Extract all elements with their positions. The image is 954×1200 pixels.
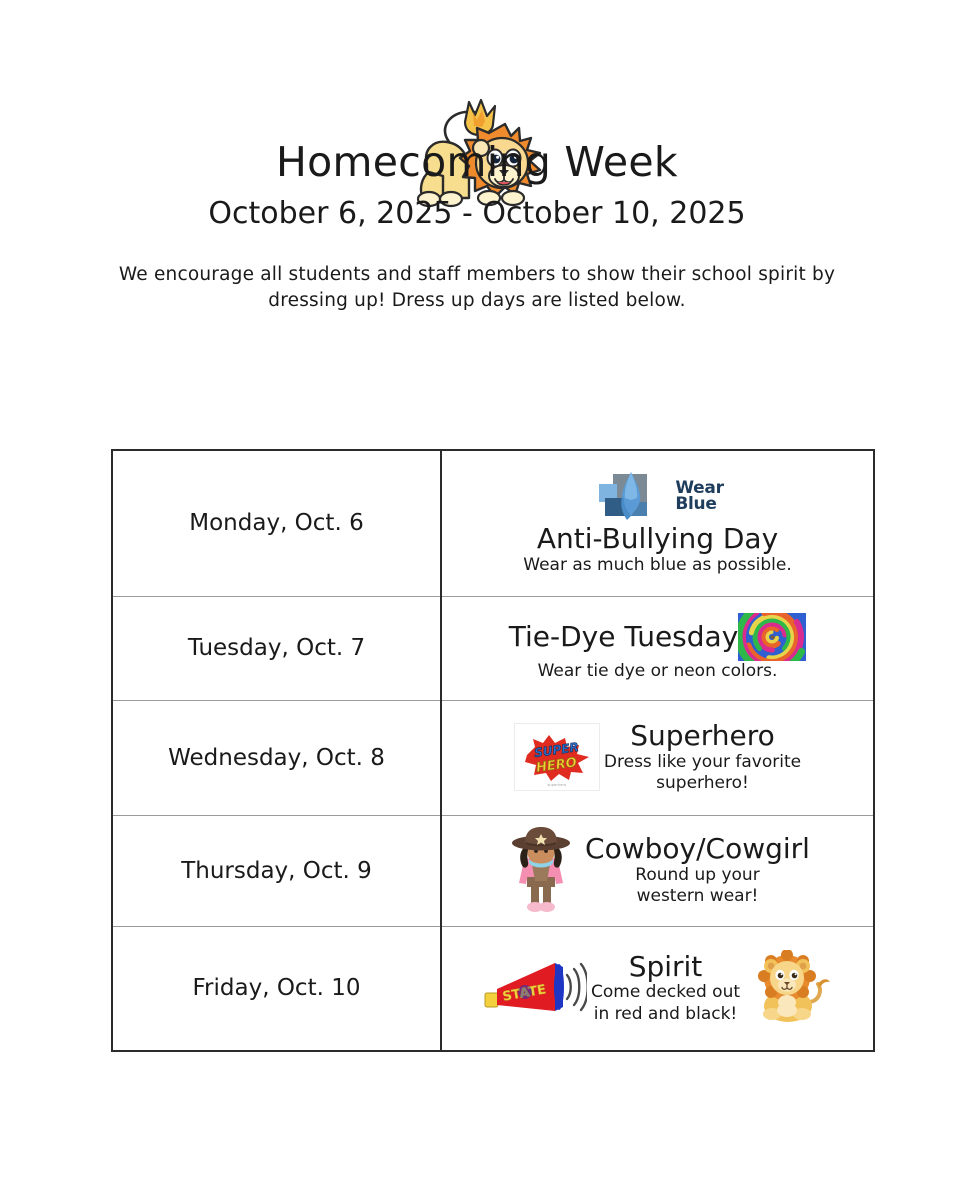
theme-title: Superhero (630, 721, 775, 752)
desc-line-1: Come decked out (591, 982, 740, 1002)
theme-cell-friday: STATE STATE Spirit (441, 926, 874, 1051)
day-cell-monday: Monday, Oct. 6 (112, 450, 441, 596)
theme-description: Dress like your favorite superhero! (604, 752, 801, 795)
day-cell-wednesday: Wednesday, Oct. 8 (112, 700, 441, 815)
lion-cub-icon (752, 950, 832, 1026)
theme-description: Come decked out in red and black! (591, 982, 740, 1025)
theme-cell-thursday: Cowboy/Cowgirl Round up your western wea… (441, 815, 874, 926)
page-title: Homecoming Week (0, 140, 954, 185)
theme-title: Anti-Bullying Day (537, 524, 778, 555)
theme-cell-monday: Wear Blue Anti-Bullying Day Wear as much… (441, 450, 874, 596)
theme-title: Cowboy/Cowgirl (585, 834, 810, 865)
wear-blue-label: Wear Blue (675, 480, 723, 513)
table-row: Friday, Oct. 10 STATE STATE (112, 926, 874, 1051)
homecoming-schedule-table: Monday, Oct. 6 (111, 449, 875, 1052)
superhero-micro-text: superhero (515, 783, 599, 787)
mascot-logo-container (0, 0, 954, 130)
wear-blue-logo-icon: Wear Blue (591, 470, 723, 522)
table-row: Monday, Oct. 6 (112, 450, 874, 596)
theme-title: Spirit (629, 952, 703, 983)
desc-line-1: Dress like your favorite (604, 752, 801, 772)
day-cell-thursday: Thursday, Oct. 9 (112, 815, 441, 926)
tie-dye-spiral-icon (738, 613, 806, 661)
table-row: Thursday, Oct. 9 (112, 815, 874, 926)
theme-description: Wear tie dye or neon colors. (538, 661, 778, 682)
intro-text: We encourage all students and staff memb… (117, 262, 837, 316)
superhero-badge-icon: SUPER HERO superhero (514, 723, 600, 791)
desc-line-2: in red and black! (591, 1004, 740, 1025)
theme-title: Tie-Dye Tuesday (509, 622, 739, 653)
desc-line-2: western wear! (635, 886, 759, 907)
cowgirl-character-icon (505, 825, 577, 917)
megaphone-icon: STATE STATE (483, 955, 587, 1021)
schedule-table-container: Monday, Oct. 6 (111, 449, 843, 1052)
intro-line-1: We encourage all students and staff memb… (119, 264, 752, 285)
desc-line-2: superhero! (604, 773, 801, 794)
theme-description: Round up your western wear! (635, 865, 759, 908)
date-range: October 6, 2025 - October 10, 2025 (0, 197, 954, 232)
day-cell-tuesday: Tuesday, Oct. 7 (112, 596, 441, 700)
table-row: Wednesday, Oct. 8 SUPER HERO superhero (112, 700, 874, 815)
theme-cell-wednesday: SUPER HERO superhero Superhero Dress lik… (441, 700, 874, 815)
flyer-page: Homecoming Week October 6, 2025 - Octobe… (0, 0, 954, 1200)
day-cell-friday: Friday, Oct. 10 (112, 926, 441, 1051)
table-row: Tuesday, Oct. 7 Tie-Dye Tuesday (112, 596, 874, 700)
theme-description: Wear as much blue as possible. (523, 555, 791, 576)
theme-cell-tuesday: Tie-Dye Tuesday (441, 596, 874, 700)
desc-line-1: Round up your (635, 865, 759, 885)
